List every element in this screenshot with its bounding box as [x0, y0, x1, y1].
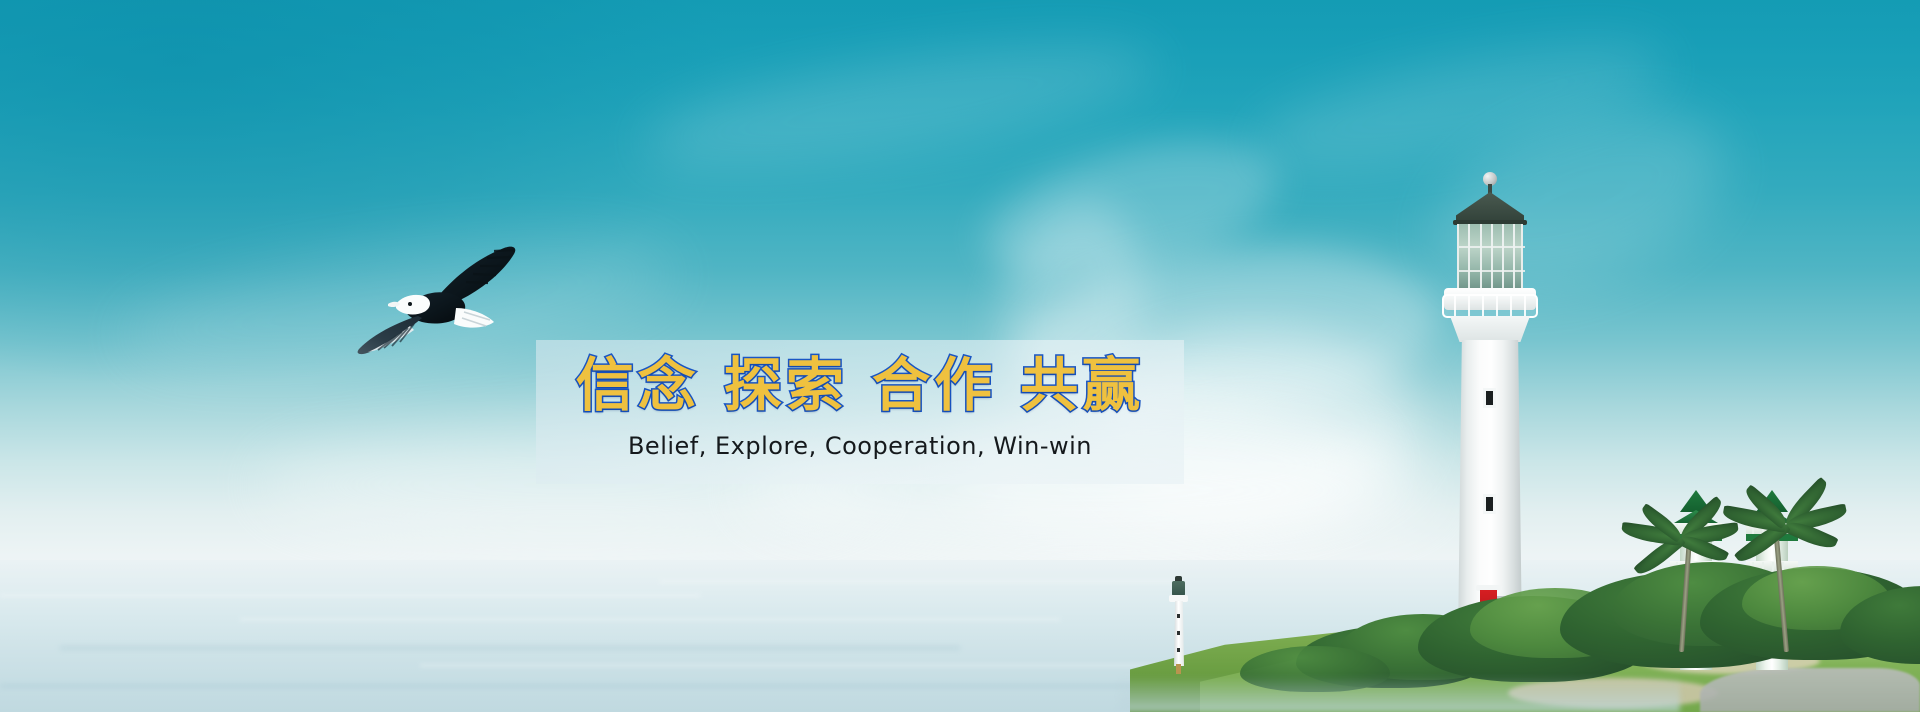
stone-path: [1700, 668, 1920, 712]
bald-eagle: [344, 238, 524, 368]
lighthouse-window: [1483, 494, 1496, 514]
eagle-lower-wing: [358, 316, 422, 354]
palm-tree-left: [1636, 486, 1726, 652]
tagline-panel: 信念 探索 合作 共赢 Belief, Explore, Cooperation…: [536, 340, 1184, 484]
main-lighthouse: [1428, 172, 1552, 642]
lighthouse-corbel: [1450, 316, 1530, 342]
distant-lantern-room: [1172, 581, 1185, 596]
eagle-eye: [408, 302, 412, 306]
eagle-tail: [454, 308, 494, 328]
distant-lighthouse: [1164, 576, 1194, 672]
palm-tree-right: [1738, 470, 1834, 652]
hero-banner-image: 信念 探索 合作 共赢 Belief, Explore, Cooperation…: [0, 0, 1920, 712]
tagline-english: Belief, Explore, Cooperation, Win-win: [536, 432, 1184, 460]
lantern-room: [1457, 224, 1523, 290]
tagline-chinese: 信念 探索 合作 共赢: [536, 348, 1184, 422]
lantern-roof: [1456, 192, 1524, 222]
lighthouse-railing: [1442, 294, 1538, 318]
water-reflection: [1120, 676, 1680, 712]
lighthouse-window: [1483, 388, 1496, 408]
